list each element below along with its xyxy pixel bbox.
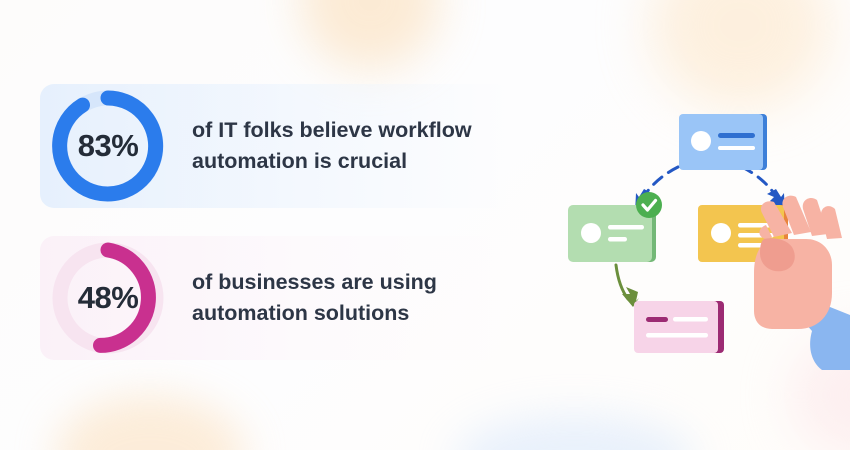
stat-item-businesses: 48% of businesses are using automation s… (0, 222, 560, 374)
stat-text-line-1: of businesses are using (192, 267, 437, 298)
stat-text-businesses: of businesses are using automation solut… (192, 267, 437, 328)
donut-chart-48: 48% (48, 238, 168, 358)
stat-text-it-folks: of IT folks believe workflow automation … (192, 115, 472, 176)
card-avatar-icon (691, 131, 711, 151)
check-badge-icon (636, 192, 662, 218)
infographic-canvas: 83% of IT folks believe workflow automat… (0, 0, 850, 450)
background-blob-blue-bottom (455, 415, 695, 450)
donut-chart-83: 83% (48, 86, 168, 206)
workflow-card-pink (634, 301, 724, 353)
donut-label-48: 48% (48, 238, 168, 358)
arrow-left-to-bottom-icon (616, 265, 639, 307)
donut-label-83: 83% (48, 86, 168, 206)
card-avatar-icon (581, 223, 601, 243)
automation-workflow-illustration (560, 105, 850, 370)
statistics-list: 83% of IT folks believe workflow automat… (0, 70, 560, 374)
hand-grabbing-card-icon (754, 196, 850, 370)
workflow-card-green (568, 192, 662, 262)
card-avatar-icon (711, 223, 731, 243)
background-blob-orange-top (300, 0, 440, 70)
background-blob-orange-bottom (55, 395, 245, 450)
workflow-card-blue (679, 114, 767, 170)
stat-text-line-2: automation is crucial (192, 146, 472, 177)
stat-item-it-folks: 83% of IT folks believe workflow automat… (0, 70, 560, 222)
background-blob-orange-illustration (650, 0, 830, 110)
stat-text-line-1: of IT folks believe workflow (192, 115, 472, 146)
stat-text-line-2: automation solutions (192, 298, 437, 329)
